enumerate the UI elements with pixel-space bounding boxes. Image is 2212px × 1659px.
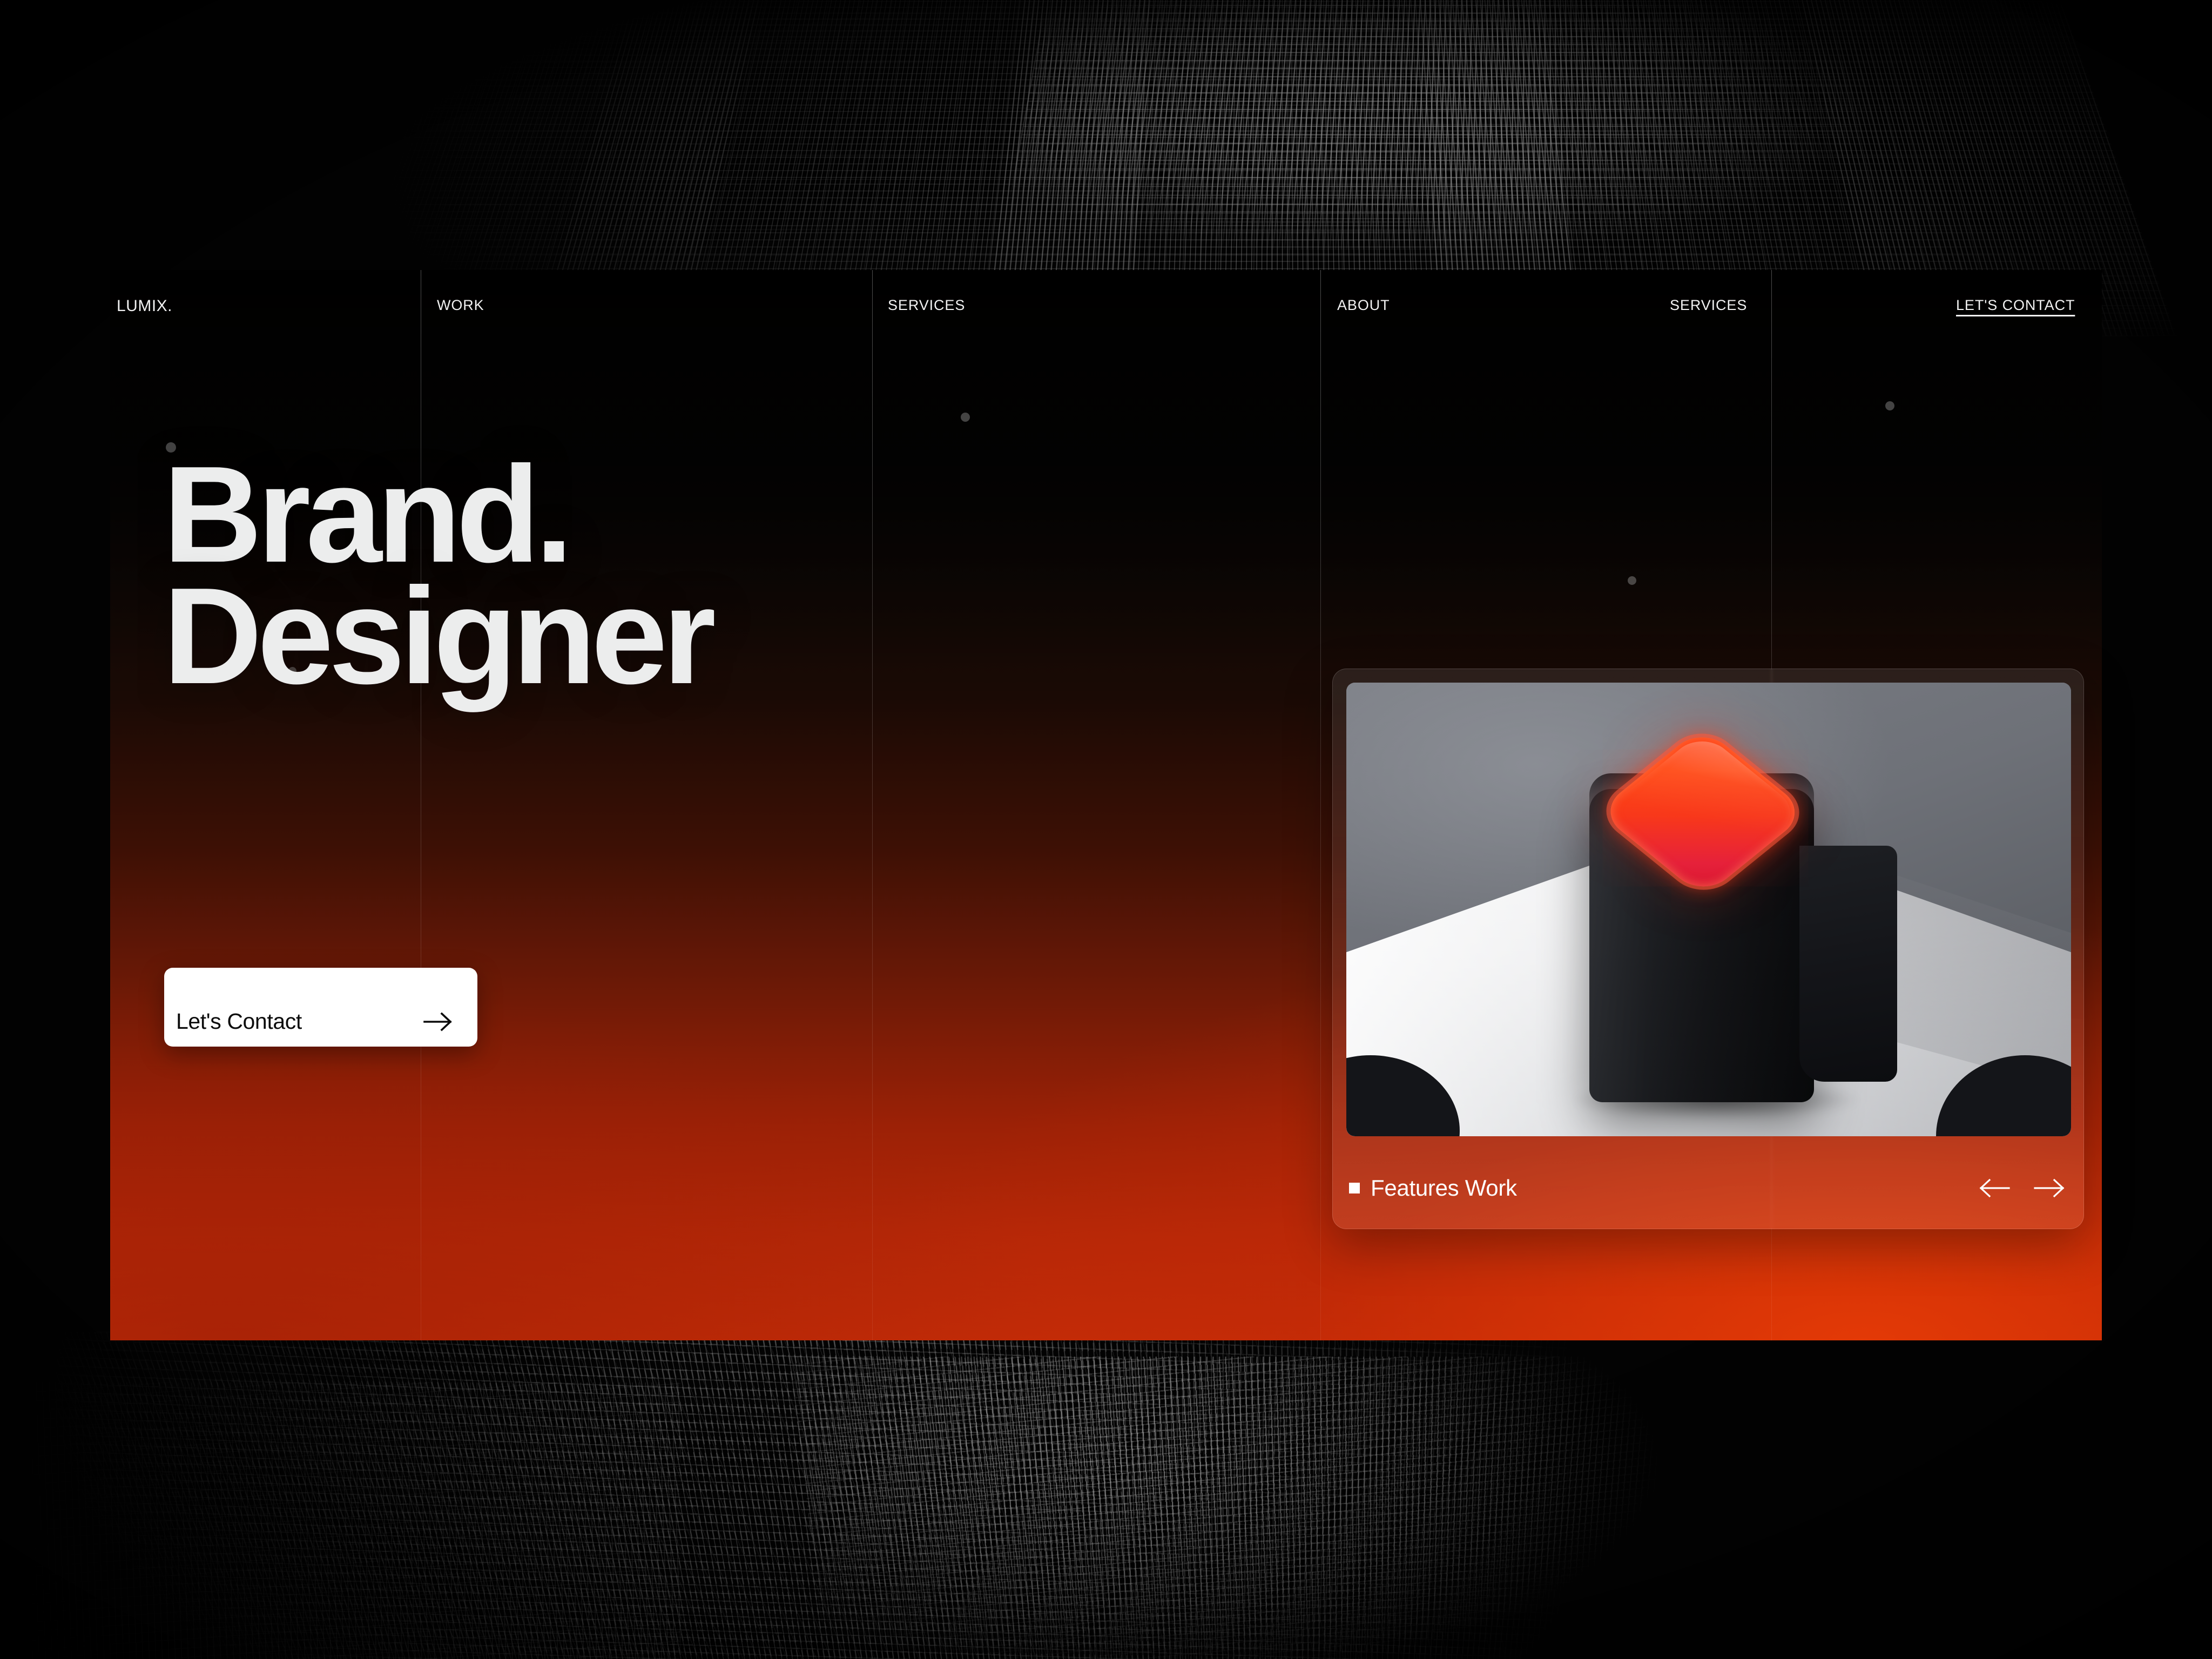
nav-item-services-2[interactable]: SERVICES	[1670, 297, 1747, 314]
render-glow-top-face	[1611, 721, 1795, 902]
arrow-right-icon	[423, 1011, 453, 1033]
render-column-side	[1799, 846, 1897, 1082]
nav-item-lets-contact[interactable]: LET'S CONTACT	[1956, 297, 2075, 314]
card-media	[1346, 683, 2071, 1136]
nav-item-services[interactable]: SERVICES	[888, 297, 965, 314]
arrow-right-icon[interactable]	[2034, 1178, 2065, 1198]
page-title: Brand. Designer	[163, 454, 711, 697]
product-render-3d	[1346, 683, 2071, 1136]
card-footer-label: Features Work	[1371, 1175, 1517, 1201]
column-divider-3	[1320, 270, 1321, 1340]
decor-dot	[1885, 401, 1894, 410]
nav-item-work[interactable]: WORK	[437, 297, 484, 314]
render-glow-gloss	[1603, 731, 1803, 893]
decor-dot	[1628, 576, 1636, 585]
card-footer-label-group: Features Work	[1349, 1175, 1517, 1201]
features-work-card[interactable]: Features Work	[1332, 669, 2084, 1229]
headline-line-2: Designer	[163, 575, 711, 697]
decor-dot	[961, 413, 970, 422]
lets-contact-button[interactable]: Let's Contact	[164, 968, 477, 1047]
main-navigation: LUMIX. WORK SERVICES ABOUT SERVICES LET'…	[110, 270, 2102, 340]
square-bullet-icon	[1349, 1183, 1360, 1193]
card-footer: Features Work	[1333, 1148, 2083, 1229]
nav-item-about[interactable]: ABOUT	[1337, 297, 1390, 314]
card-carousel-controls	[1979, 1178, 2065, 1198]
brand-logo[interactable]: LUMIX.	[117, 297, 172, 315]
column-divider-2	[872, 270, 873, 1340]
column-divider-1	[421, 270, 421, 1340]
lets-contact-button-label: Let's Contact	[176, 1010, 302, 1033]
arrow-left-icon[interactable]	[1979, 1178, 2010, 1198]
